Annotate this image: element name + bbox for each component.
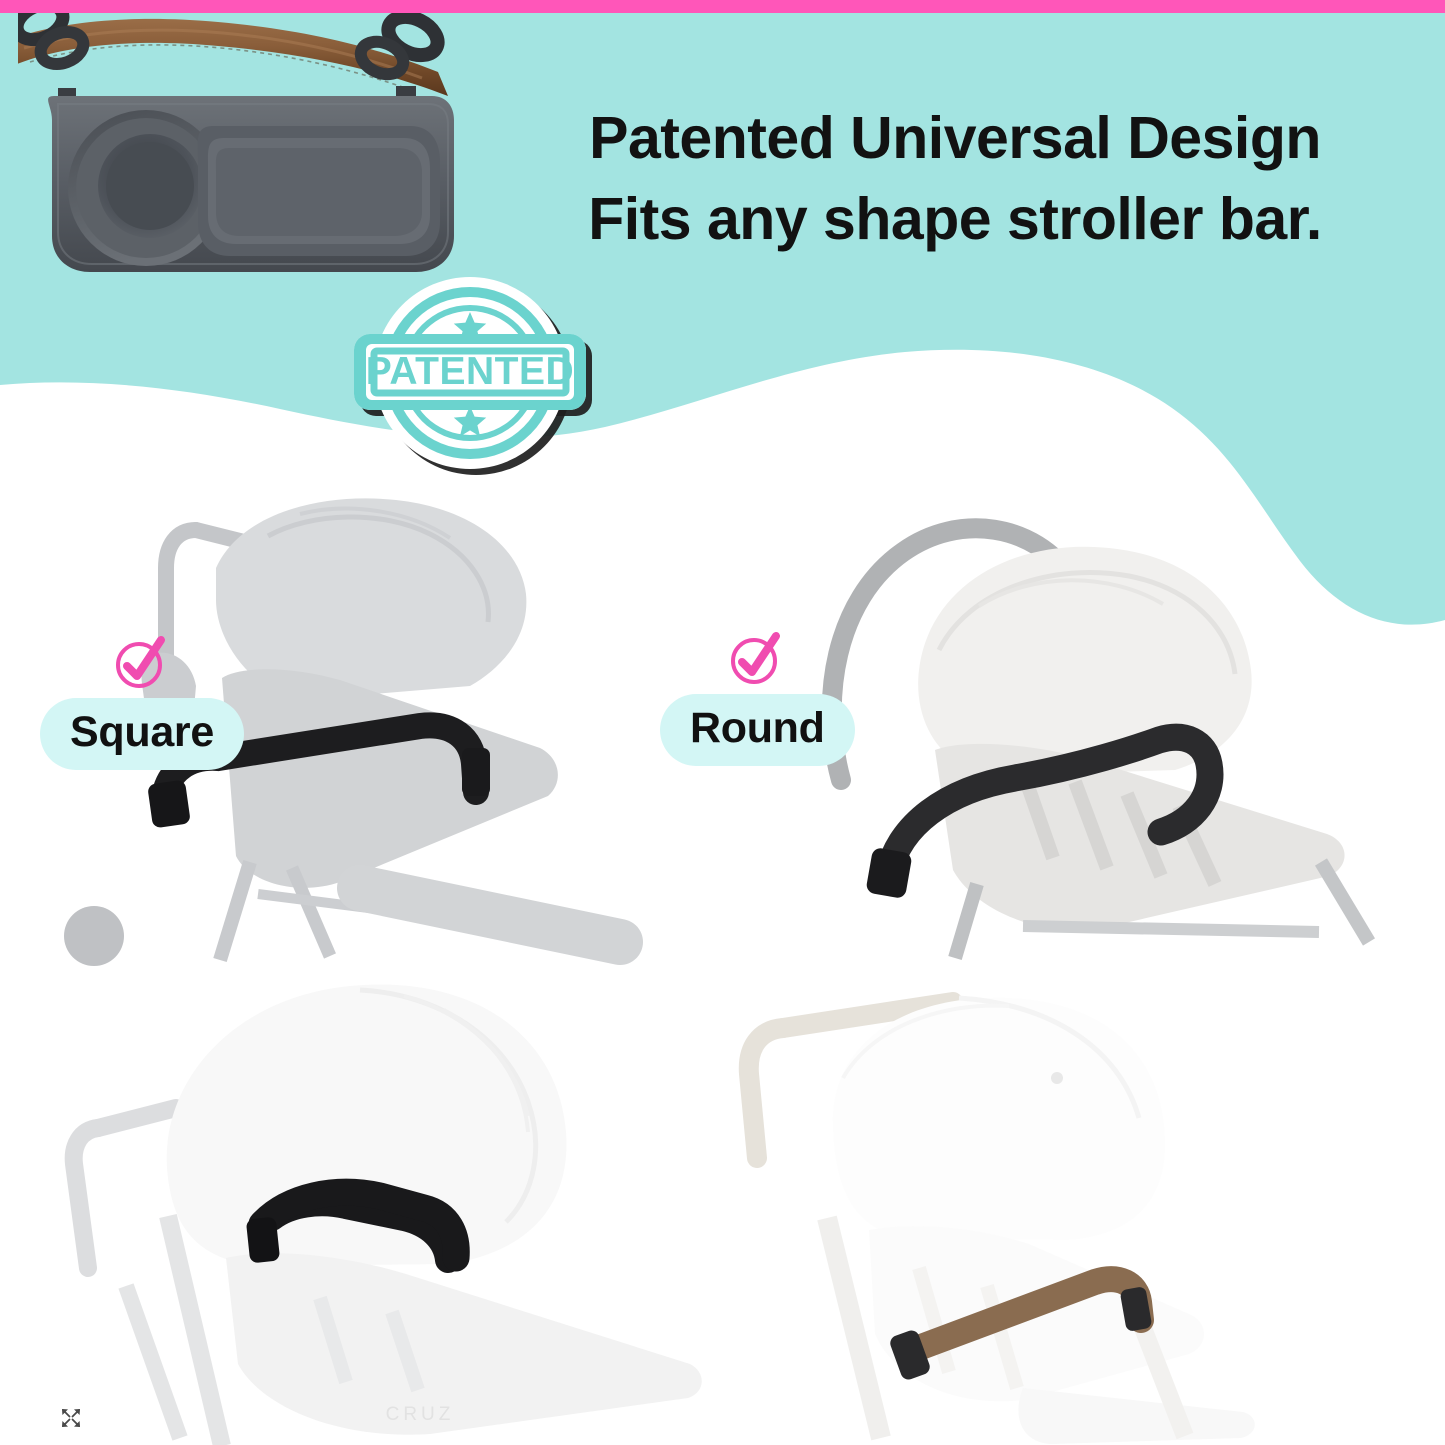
shape-cell-curved: CRUZ Curved	[0, 968, 722, 1445]
stroller-model-text: CRUZ	[386, 1404, 455, 1425]
shape-mark-square: Square	[40, 634, 244, 770]
product-infographic: Patented Universal Design Fits any shape…	[0, 0, 1445, 1445]
page-title: Patented Universal Design Fits any shape…	[505, 98, 1405, 261]
stroller-image-curved: CRUZ	[0, 968, 722, 1445]
shape-cell-square: Square	[0, 490, 722, 968]
check-circle-icon	[113, 634, 171, 692]
stroller-image-straight	[723, 968, 1445, 1445]
shape-label-square: Square	[40, 698, 244, 770]
headline-line-1: Patented Universal Design	[505, 98, 1405, 179]
expand-arrows-icon[interactable]	[60, 1407, 82, 1429]
pink-accent-bar	[0, 0, 1445, 13]
shape-label-round: Round	[660, 694, 855, 766]
shape-cell-round: Round	[723, 490, 1445, 968]
headline-line-2: Fits any shape stroller bar.	[505, 179, 1405, 260]
hero-product-image	[18, 0, 488, 300]
shape-cell-straight: Straight	[723, 968, 1445, 1445]
shape-mark-round: Round	[660, 630, 855, 766]
shape-compatibility-grid: Square	[0, 490, 1445, 1445]
check-circle-icon	[728, 630, 786, 688]
patented-badge-label: PATENTED	[366, 350, 574, 393]
patented-badge: PATENTED	[336, 266, 606, 481]
